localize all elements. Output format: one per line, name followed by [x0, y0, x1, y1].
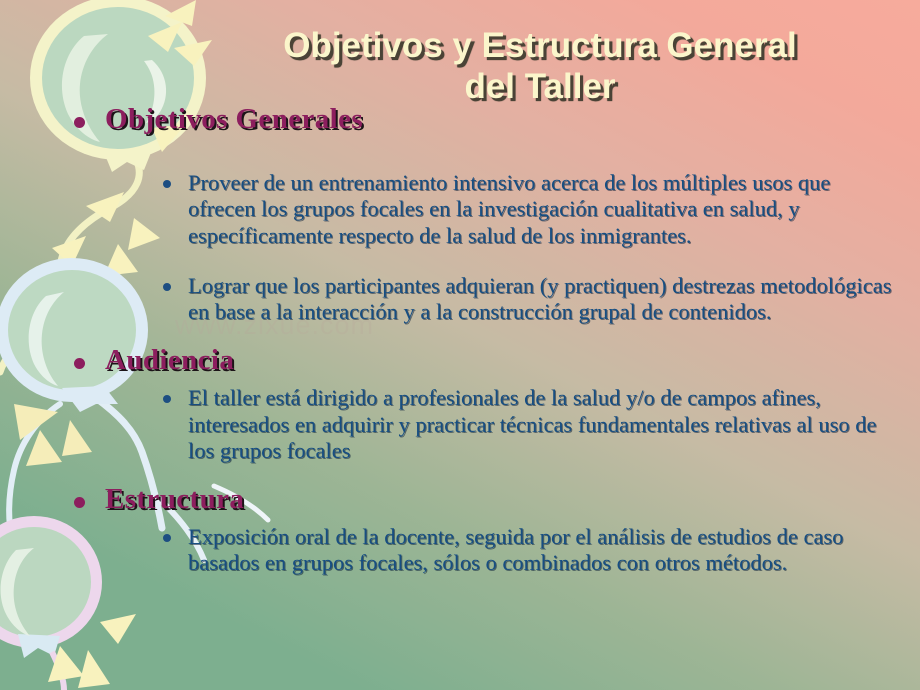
level2-bullet-icon: [163, 395, 171, 403]
slide-canvas: www.zixue.com Objetivos y Estructura Gen…: [0, 0, 920, 690]
level2-bullet-icon: [163, 180, 171, 188]
section-heading-audiencia: Audiencia: [0, 345, 920, 377]
list-item: Lograr que los participantes adquieran (…: [0, 273, 920, 326]
level1-bullet-icon: [74, 358, 85, 369]
slide-title: Objetivos y Estructura General del Talle…: [160, 26, 920, 107]
level2-bullet-icon: [163, 534, 171, 542]
list-item-text: El taller está dirigido a profesionales …: [188, 385, 876, 463]
list-item: Exposición oral de la docente, seguida p…: [0, 524, 920, 577]
list-item-text: Proveer de un entrenamiento intensivo ac…: [188, 170, 830, 248]
level2-bullet-icon: [163, 283, 171, 291]
slide-content-body: Objetivos Generales Proveer de un entren…: [0, 104, 920, 577]
level1-bullet-icon: [74, 117, 85, 128]
list-item: El taller está dirigido a profesionales …: [0, 385, 920, 464]
slide-title-line-2: del Taller: [464, 67, 615, 106]
slide-title-line-1: Objetivos y Estructura General: [283, 26, 797, 65]
section-heading-label: Estructura: [105, 483, 244, 515]
section-heading-label: Objetivos Generales: [105, 103, 363, 135]
list-item: Proveer de un entrenamiento intensivo ac…: [0, 170, 920, 249]
section-heading-estructura: Estructura: [0, 484, 920, 516]
section-heading-label: Audiencia: [105, 344, 234, 376]
section-heading-objetivos-generales: Objetivos Generales: [0, 104, 920, 136]
level1-bullet-icon: [74, 497, 85, 508]
list-item-text: Lograr que los participantes adquieran (…: [188, 273, 891, 324]
list-item-text: Exposición oral de la docente, seguida p…: [188, 524, 843, 575]
